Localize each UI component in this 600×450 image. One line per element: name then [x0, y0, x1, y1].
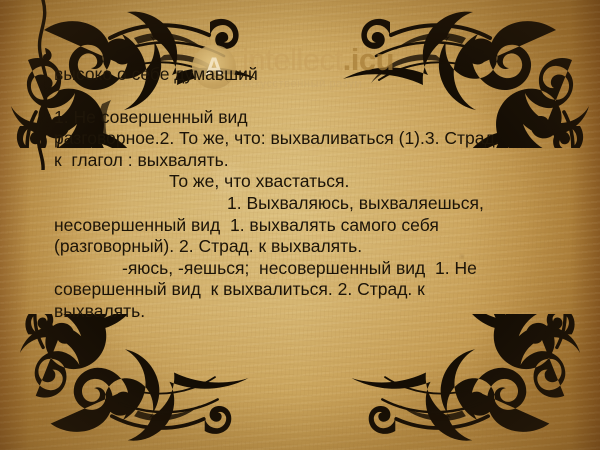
paper-vignette — [0, 0, 600, 450]
parchment-page: A intellect.icu искусственный разум высо… — [0, 0, 600, 450]
